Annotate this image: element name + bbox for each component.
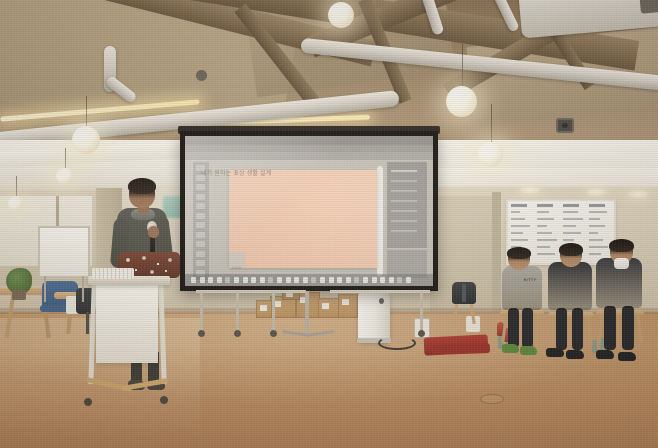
poster-sheet-line xyxy=(537,218,554,220)
poster-sheet-heading xyxy=(537,204,553,207)
poster-sheet-line xyxy=(589,218,600,220)
hoodie-graphic-text: KITTY xyxy=(519,277,541,282)
poster-sheet-line xyxy=(589,239,603,241)
ceiling-speaker-lens-icon xyxy=(562,123,568,128)
projection-screen[interactable]: 내가 원하는 표상 생활 설계 100% xyxy=(180,131,438,291)
seated-person-2-torso xyxy=(548,262,592,310)
presenter-hand xyxy=(148,226,159,238)
seated-person-1-hair xyxy=(507,247,531,259)
seated-person-leg xyxy=(556,308,567,350)
screen-support-bar xyxy=(196,290,306,293)
seated-person-shoe xyxy=(596,350,614,359)
box-label xyxy=(274,301,281,307)
keyboard-on-lectern[interactable] xyxy=(92,268,134,279)
floor-cable xyxy=(378,336,416,350)
poster-sheet-line xyxy=(511,211,520,213)
poster-sheet-line xyxy=(511,239,528,241)
seated-person-1-torso xyxy=(502,266,542,310)
projection-screen-surface[interactable]: 내가 원하는 표상 생활 설계 100% xyxy=(185,136,433,286)
poster-sheet-line xyxy=(589,225,605,227)
seated-person-leg xyxy=(508,308,519,348)
poster-sheet-line xyxy=(537,211,549,213)
whiteboard-leg xyxy=(44,276,46,302)
screen-support-bar xyxy=(330,290,430,293)
screen-stand-leg xyxy=(272,292,275,332)
poster-sheet-heading xyxy=(563,204,579,207)
poster-sheet-line xyxy=(589,232,598,234)
poster-sheet-line xyxy=(511,232,523,234)
lectern-caster xyxy=(84,398,92,406)
screen-stand-caster xyxy=(234,330,241,337)
duct-access-plate xyxy=(639,0,658,14)
lamp-cord xyxy=(462,44,463,86)
air-purifier xyxy=(358,290,390,342)
poster-sheet-line xyxy=(537,239,557,241)
poster-sheet-line xyxy=(511,218,525,220)
pendant-globe-lamp xyxy=(56,168,73,185)
recessed-downlight xyxy=(586,188,606,196)
lamp-cord xyxy=(86,96,87,126)
seated-person-leg xyxy=(522,308,533,348)
lectern-caster xyxy=(160,396,168,404)
poster-sheet-line xyxy=(589,211,607,213)
poster-sheet-line xyxy=(563,239,574,241)
whiteboard-leg xyxy=(82,276,84,302)
box-label xyxy=(322,303,329,309)
seated-person-shoe xyxy=(566,350,584,359)
screen-stand-leg xyxy=(200,292,203,332)
door-frame xyxy=(492,192,501,316)
face-mask xyxy=(614,258,629,269)
photo-scene: KITTY 내가 원하는 표상 생활 설계 100% xyxy=(0,0,658,448)
poster-sheet-line xyxy=(511,225,530,227)
lamp-cord xyxy=(65,148,66,168)
poster-sheet-column xyxy=(536,204,559,262)
lamp-cord xyxy=(16,176,17,196)
poster-sheet-heading xyxy=(589,204,605,207)
screen-stand-leg xyxy=(420,292,423,332)
cardboard-box xyxy=(338,294,358,318)
red-floor-mat-fold xyxy=(432,343,490,355)
lectern-front-panel xyxy=(96,285,158,363)
poster-sheet-line xyxy=(537,232,552,234)
pendant-globe-lamp xyxy=(478,142,503,167)
air-purifier-indicator-icon xyxy=(379,298,384,304)
screen-stand-pole xyxy=(305,291,309,335)
box-label xyxy=(342,299,349,305)
whiteboard xyxy=(38,226,90,278)
seated-person-shoe xyxy=(502,344,519,353)
poster-sheet-line xyxy=(537,225,547,227)
seated-person-shoe xyxy=(520,346,537,355)
poster-sheet-heading xyxy=(511,204,527,207)
poster-sheet-line xyxy=(589,253,601,255)
box-label xyxy=(260,305,267,311)
recessed-downlight xyxy=(520,186,540,194)
seated-person-leg xyxy=(572,308,583,350)
plant-pot xyxy=(12,290,26,300)
ceiling-sensor-icon xyxy=(196,70,207,81)
backpack-strap xyxy=(462,284,466,302)
seated-person-leg xyxy=(622,306,634,350)
chair-leg xyxy=(86,312,89,334)
seated-person-3-hair xyxy=(609,239,634,252)
screen-glare xyxy=(185,136,433,286)
screen-stand-caster xyxy=(198,330,205,337)
seated-person-2-hair xyxy=(559,243,583,256)
seated-person-leg xyxy=(604,306,616,350)
screen-stand-leg xyxy=(236,292,239,332)
poster-sheet-line xyxy=(563,211,578,213)
poster-sheet-line xyxy=(563,232,581,234)
presenter-hair xyxy=(128,178,156,194)
screen-stand-caster xyxy=(418,330,425,337)
seated-person-shoe xyxy=(618,352,636,361)
screen-stand-caster xyxy=(270,330,277,337)
pendant-globe-lamp xyxy=(72,126,100,154)
poster-sheet-line xyxy=(537,253,555,255)
lamp-cord xyxy=(491,104,492,142)
pendant-globe-lamp xyxy=(328,2,354,28)
poster-sheet-line xyxy=(563,225,576,227)
floor-outlet xyxy=(480,394,504,404)
poster-sheet-column xyxy=(588,204,611,262)
poster-sheet-line xyxy=(589,246,608,248)
whiteboard-surface xyxy=(40,228,88,276)
pendant-globe-lamp xyxy=(8,196,23,211)
poster-sheet-line xyxy=(563,218,583,220)
poster-sheet-line xyxy=(537,246,550,248)
pendant-globe-lamp xyxy=(446,86,477,117)
seated-person-shoe xyxy=(546,348,564,357)
recessed-downlight xyxy=(628,190,648,198)
